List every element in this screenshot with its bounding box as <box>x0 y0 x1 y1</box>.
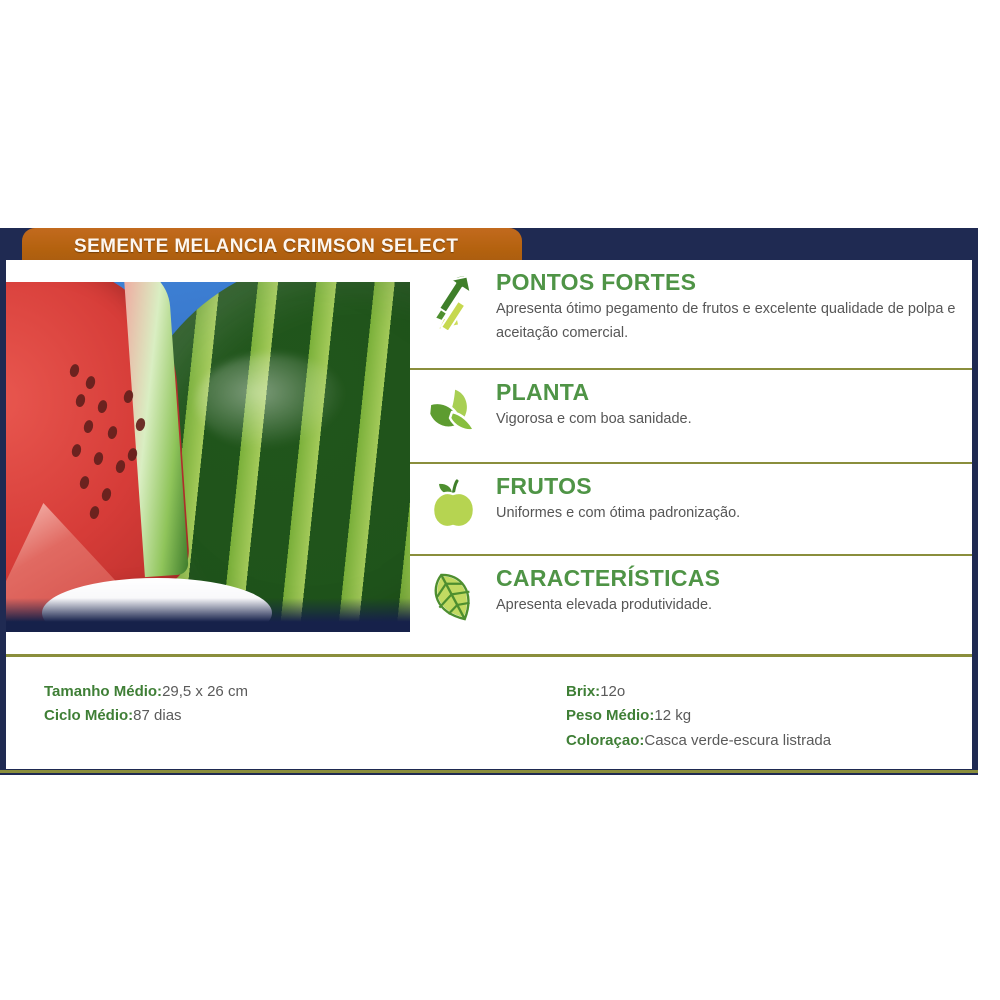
feature-title: PLANTA <box>496 380 958 405</box>
spec-value: 87 dias <box>133 707 181 724</box>
spec-label: Tamanho Médio: <box>44 683 162 700</box>
spec-label: Coloraçao: <box>566 732 644 749</box>
feature-row-planta: PLANTA Vigorosa e com boa sanidade. <box>410 368 972 462</box>
apple-icon <box>424 476 482 534</box>
photo-shadow-base <box>6 598 410 632</box>
photo-melon-seeds <box>64 360 174 540</box>
spec-label: Brix: <box>566 683 600 700</box>
specs-section: Tamanho Médio:29,5 x 26 cm Ciclo Médio:8… <box>6 657 972 769</box>
feature-description: Apresenta elevada produtividade. <box>496 594 958 617</box>
feature-body: CARACTERÍSTICAS Apresenta elevada produt… <box>496 566 972 618</box>
feature-body: PONTOS FORTES Apresenta ótimo pegamento … <box>496 270 972 345</box>
spec-value: Casca verde-escura listrada <box>644 732 831 749</box>
feature-title: PONTOS FORTES <box>496 270 958 295</box>
growth-arrow-icon <box>424 272 482 330</box>
feature-body: PLANTA Vigorosa e com boa sanidade. <box>496 380 972 432</box>
spec-label: Peso Médio: <box>566 707 654 724</box>
specs-column-left: Tamanho Médio:29,5 x 26 cm Ciclo Médio:8… <box>6 657 466 769</box>
feature-title: CARACTERÍSTICAS <box>496 566 958 591</box>
specs-column-right: Brix:12o Peso Médio:12 kg Coloraçao:Casc… <box>466 657 972 769</box>
feature-title: FRUTOS <box>496 474 958 499</box>
product-card: PONTOS FORTES Apresenta ótimo pegamento … <box>6 260 972 769</box>
spec-value: 29,5 x 26 cm <box>162 683 248 700</box>
page-title: SEMENTE MELANCIA CRIMSON SELECT <box>74 236 458 258</box>
spec-peso-medio: Peso Médio:12 kg <box>566 704 972 728</box>
product-info-panel: SEMENTE MELANCIA CRIMSON SELECT <box>0 228 978 775</box>
leaves-icon <box>424 382 482 440</box>
photo-melon-highlight <box>196 354 346 449</box>
leaf-icon <box>424 568 482 626</box>
spec-brix: Brix:12o <box>566 680 972 704</box>
feature-row-pontos-fortes: PONTOS FORTES Apresenta ótimo pegamento … <box>410 260 972 368</box>
spec-coloracao: Coloraçao:Casca verde-escura listrada <box>566 729 972 753</box>
bottom-rule <box>0 770 978 773</box>
spec-label: Ciclo Médio: <box>44 707 133 724</box>
feature-row-caracteristicas: CARACTERÍSTICAS Apresenta elevada produt… <box>410 554 972 646</box>
card-top-area: PONTOS FORTES Apresenta ótimo pegamento … <box>6 260 972 654</box>
feature-list: PONTOS FORTES Apresenta ótimo pegamento … <box>410 260 972 654</box>
feature-row-frutos: FRUTOS Uniformes e com ótima padronizaçã… <box>410 462 972 554</box>
spec-tamanho-medio: Tamanho Médio:29,5 x 26 cm <box>44 680 466 704</box>
spec-value: 12 kg <box>654 707 691 724</box>
feature-description: Vigorosa e com boa sanidade. <box>496 408 958 431</box>
spec-ciclo-medio: Ciclo Médio:87 dias <box>44 704 466 728</box>
feature-description: Uniformes e com ótima padronização. <box>496 502 958 525</box>
watermelon-photo <box>6 282 410 632</box>
feature-body: FRUTOS Uniformes e com ótima padronizaçã… <box>496 474 972 526</box>
feature-description: Apresenta ótimo pegamento de frutos e ex… <box>496 298 958 345</box>
spec-value: 12o <box>600 683 625 700</box>
